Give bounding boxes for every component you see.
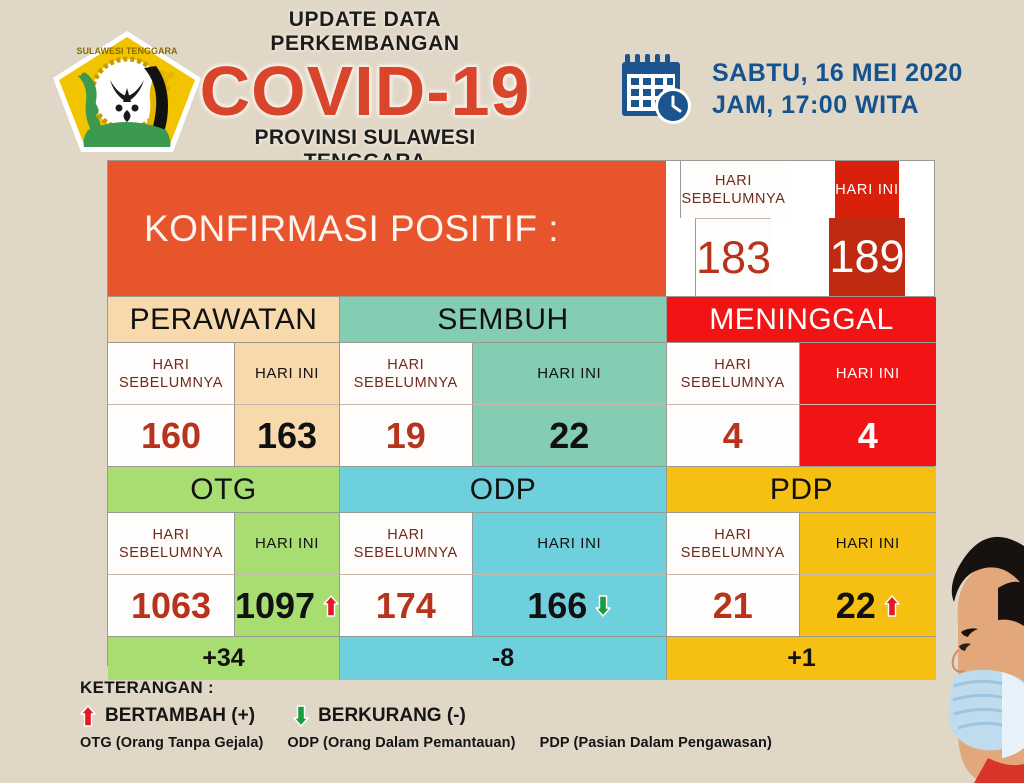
confirmed-previous-value: 183 — [695, 218, 771, 296]
group-previous-value: 1063 — [108, 574, 234, 636]
arrow-down-icon — [595, 595, 611, 617]
date-time-block: SABTU, 16 MEI 2020 JAM, 17:00 WITA — [618, 50, 963, 128]
group-today-value: 22 — [549, 415, 589, 457]
date-line: SABTU, 16 MEI 2020 — [712, 57, 963, 89]
confirmed-previous-column: HARI SEBELUMNYA 183 — [666, 161, 800, 296]
time-line: JAM, 17:00 WITA — [712, 89, 963, 121]
abbr-pdp: PDP (Pasian Dalam Pengawasan) — [540, 735, 772, 751]
column-header-today: HARI INI — [472, 512, 666, 574]
column-header-previous: HARI SEBELUMNYA — [680, 161, 785, 218]
calendar-clock-icon — [618, 50, 696, 128]
group-meninggal: MENINGGALHARISEBELUMNYAHARI INI44 — [666, 297, 936, 466]
column-header-today: HARI INI — [835, 161, 899, 218]
arrow-up-icon — [884, 595, 900, 617]
column-header-today: HARI INI — [234, 342, 339, 404]
page-title: COVID-19 — [195, 54, 535, 128]
group-title: MENINGGAL — [667, 297, 936, 342]
group-title: SEMBUH — [340, 297, 666, 342]
group-today-value: 166 — [527, 585, 587, 627]
covid-stats-table: KONFIRMASI POSITIF : HARI SEBELUMNYA 183… — [107, 160, 935, 666]
group-title: OTG — [108, 467, 339, 512]
care-recovered-died-band: PERAWATANHARISEBELUMNYAHARI INI160163SEM… — [108, 296, 934, 466]
masked-man-illustration — [928, 528, 1024, 783]
header: SULAWESI TENGGARA UPDATE DATA PERKEMBANG… — [0, 0, 1024, 158]
arrow-down-icon — [293, 705, 309, 727]
group-previous-value: 19 — [340, 404, 472, 466]
emblem-ring-text: SULAWESI TENGGARA — [76, 46, 178, 56]
legend: KETERANGAN : BERTAMBAH (+) BERKURANG (-)… — [80, 678, 772, 751]
group-today-cell: 1097 — [234, 574, 339, 636]
group-perawatan: PERAWATANHARISEBELUMNYAHARI INI160163 — [108, 297, 339, 466]
group-today-value: 22 — [836, 585, 876, 627]
group-previous-value: 21 — [667, 574, 799, 636]
group-delta: -8 — [340, 636, 666, 680]
legend-increase: BERTAMBAH (+) — [80, 705, 255, 727]
confirmed-today-column: HARI INI 189 — [800, 161, 934, 296]
group-previous-value: 174 — [340, 574, 472, 636]
group-previous-value: 4 — [667, 404, 799, 466]
group-today-cell: 163 — [234, 404, 339, 466]
abbr-odp: ODP (Orang Dalam Pemantauan) — [287, 735, 515, 751]
arrow-up-icon — [323, 595, 339, 617]
group-today-cell: 166 — [472, 574, 666, 636]
group-pdp: PDPHARISEBELUMNYAHARI INI2122+1 — [666, 467, 936, 680]
legend-trend-row: BERTAMBAH (+) BERKURANG (-) — [80, 705, 772, 727]
column-header-today: HARI INI — [472, 342, 666, 404]
column-header-today: HARI INI — [799, 342, 936, 404]
group-today-cell: 4 — [799, 404, 936, 466]
group-sembuh: SEMBUHHARISEBELUMNYAHARI INI1922 — [339, 297, 666, 466]
title-block: UPDATE DATA PERKEMBANGAN COVID-19 PROVIN… — [195, 8, 535, 174]
sulawesi-tenggara-emblem-icon: SULAWESI TENGGARA — [48, 28, 206, 156]
confirmed-band: KONFIRMASI POSITIF : HARI SEBELUMNYA 183… — [108, 161, 934, 296]
group-odp: ODPHARISEBELUMNYAHARI INI174166-8 — [339, 467, 666, 680]
group-today-cell: 22 — [799, 574, 936, 636]
header-line-1: UPDATE DATA PERKEMBANGAN — [195, 8, 535, 56]
date-time-text: SABTU, 16 MEI 2020 JAM, 17:00 WITA — [712, 57, 963, 121]
column-header-today: HARI INI — [799, 512, 936, 574]
group-delta: +1 — [667, 636, 936, 680]
arrow-up-icon — [80, 705, 96, 727]
legend-increase-label: BERTAMBAH (+) — [105, 705, 255, 727]
group-today-value: 4 — [858, 415, 878, 457]
legend-heading: KETERANGAN : — [80, 678, 772, 698]
group-previous-value: 160 — [108, 404, 234, 466]
column-header-today: HARI INI — [234, 512, 339, 574]
legend-decrease: BERKURANG (-) — [293, 705, 466, 727]
legend-decrease-label: BERKURANG (-) — [318, 705, 466, 727]
group-today-cell: 22 — [472, 404, 666, 466]
group-title: ODP — [340, 467, 666, 512]
column-header-previous: HARISEBELUMNYA — [340, 512, 472, 574]
group-delta: +34 — [108, 636, 339, 680]
column-header-previous: HARISEBELUMNYA — [667, 512, 799, 574]
confirmed-label: KONFIRMASI POSITIF : — [108, 161, 666, 296]
column-header-previous: HARISEBELUMNYA — [108, 512, 234, 574]
confirmed-today-value: 189 — [829, 218, 904, 296]
group-today-value: 1097 — [235, 585, 315, 627]
otg-odp-pdp-band: OTGHARISEBELUMNYAHARI INI10631097+34ODPH… — [108, 466, 934, 680]
column-header-previous: HARISEBELUMNYA — [667, 342, 799, 404]
group-title: PERAWATAN — [108, 297, 339, 342]
column-header-previous: HARISEBELUMNYA — [340, 342, 472, 404]
group-otg: OTGHARISEBELUMNYAHARI INI10631097+34 — [108, 467, 339, 680]
header-previous-text: HARI SEBELUMNYA — [681, 172, 785, 208]
group-today-value: 163 — [257, 415, 317, 457]
column-header-previous: HARISEBELUMNYA — [108, 342, 234, 404]
abbr-otg: OTG (Orang Tanpa Gejala) — [80, 735, 263, 751]
legend-abbreviations: OTG (Orang Tanpa Gejala) ODP (Orang Dala… — [80, 735, 772, 751]
group-title: PDP — [667, 467, 936, 512]
